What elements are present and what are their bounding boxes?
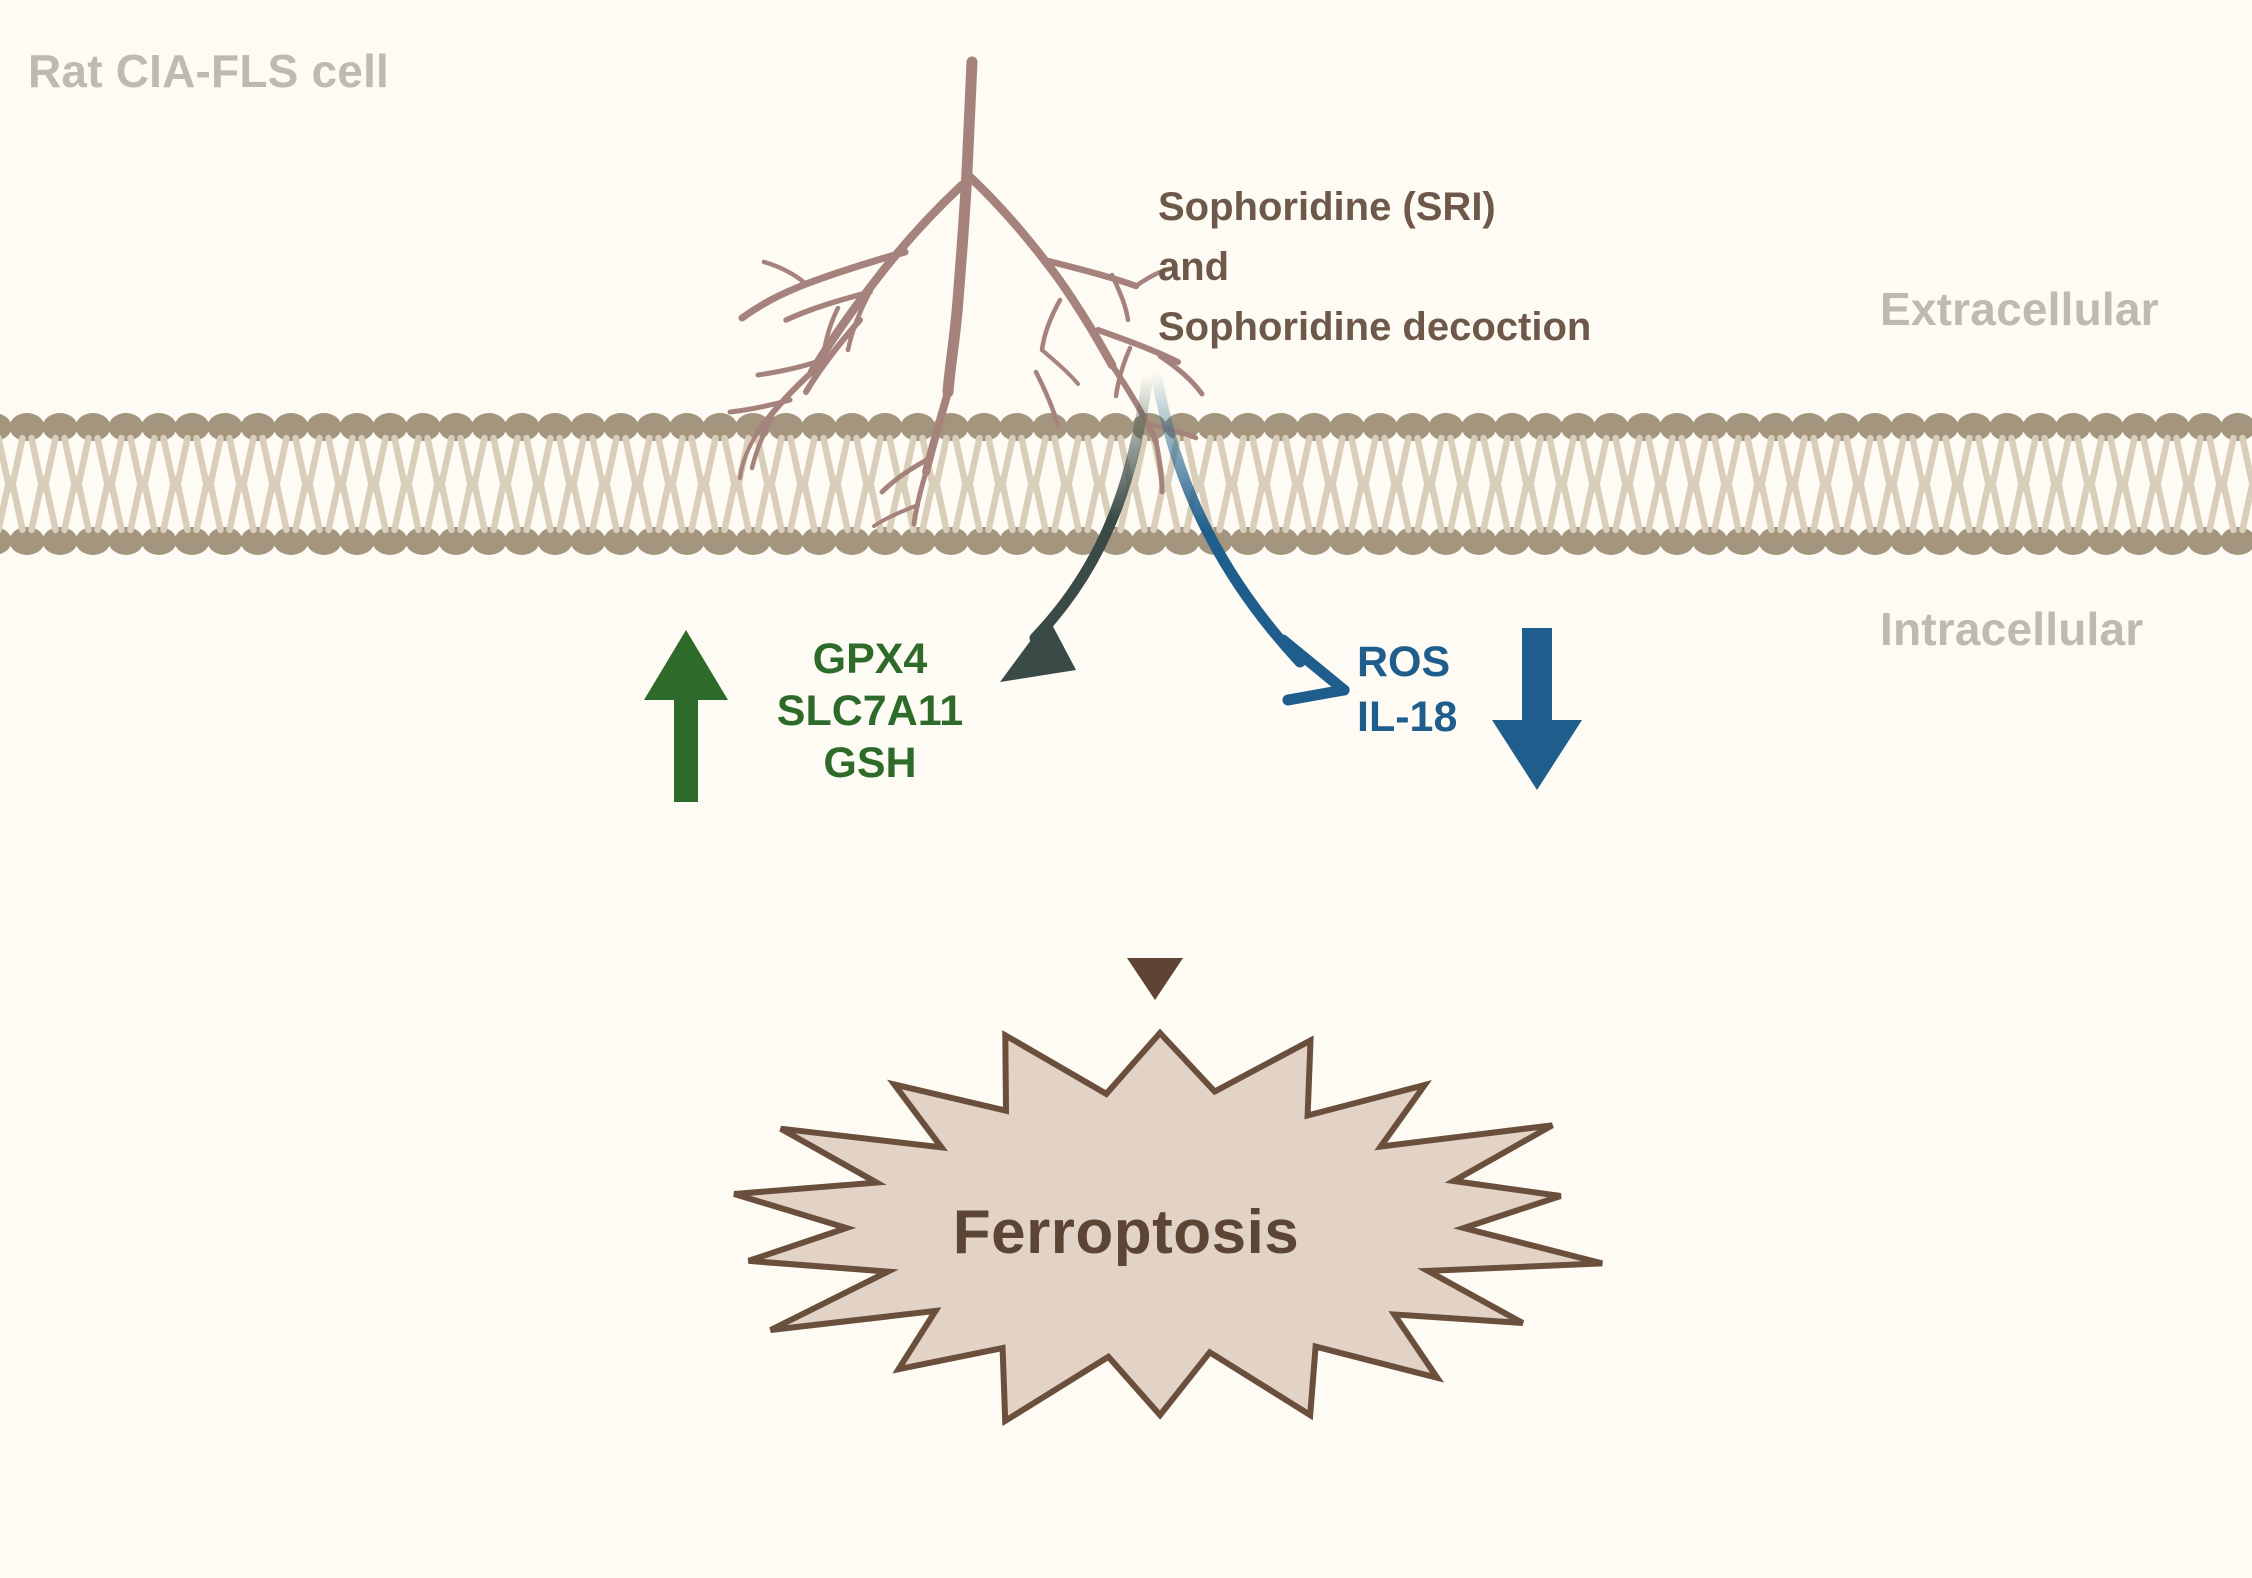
stimulus-label-line3: Sophoridine decoction — [1158, 301, 1591, 353]
upregulated-item-0: GPX4 — [740, 634, 1000, 685]
inhibition-tbar — [1283, 640, 1344, 690]
stimulus-label-line1: Sophoridine (SRI) — [1158, 181, 1496, 233]
pathway-diagram: Rat CIA-FLS cell Extracellular Intracell… — [0, 0, 2252, 1578]
edge-to-ferroptosis — [1127, 730, 1183, 1000]
diagram-canvas — [0, 0, 2252, 1578]
stimulus-label-line2: and — [1158, 241, 1229, 293]
arrowhead-ferroptosis — [1127, 958, 1183, 1000]
label-extracellular: Extracellular — [1880, 282, 2159, 336]
downregulated-item-1: IL-18 — [1357, 692, 1457, 743]
inhibition-tbar-2 — [1288, 690, 1344, 700]
down-arrow-icon — [1492, 628, 1582, 790]
upregulated-item-2: GSH — [740, 738, 1000, 789]
downregulated-item-0: ROS — [1357, 637, 1450, 688]
ferroptosis-label: Ferroptosis — [0, 1196, 2252, 1269]
label-intracellular: Intracellular — [1880, 602, 2143, 656]
up-arrow-icon — [644, 630, 728, 802]
page-title: Rat CIA-FLS cell — [28, 44, 389, 98]
upregulated-item-1: SLC7A11 — [740, 686, 1000, 737]
